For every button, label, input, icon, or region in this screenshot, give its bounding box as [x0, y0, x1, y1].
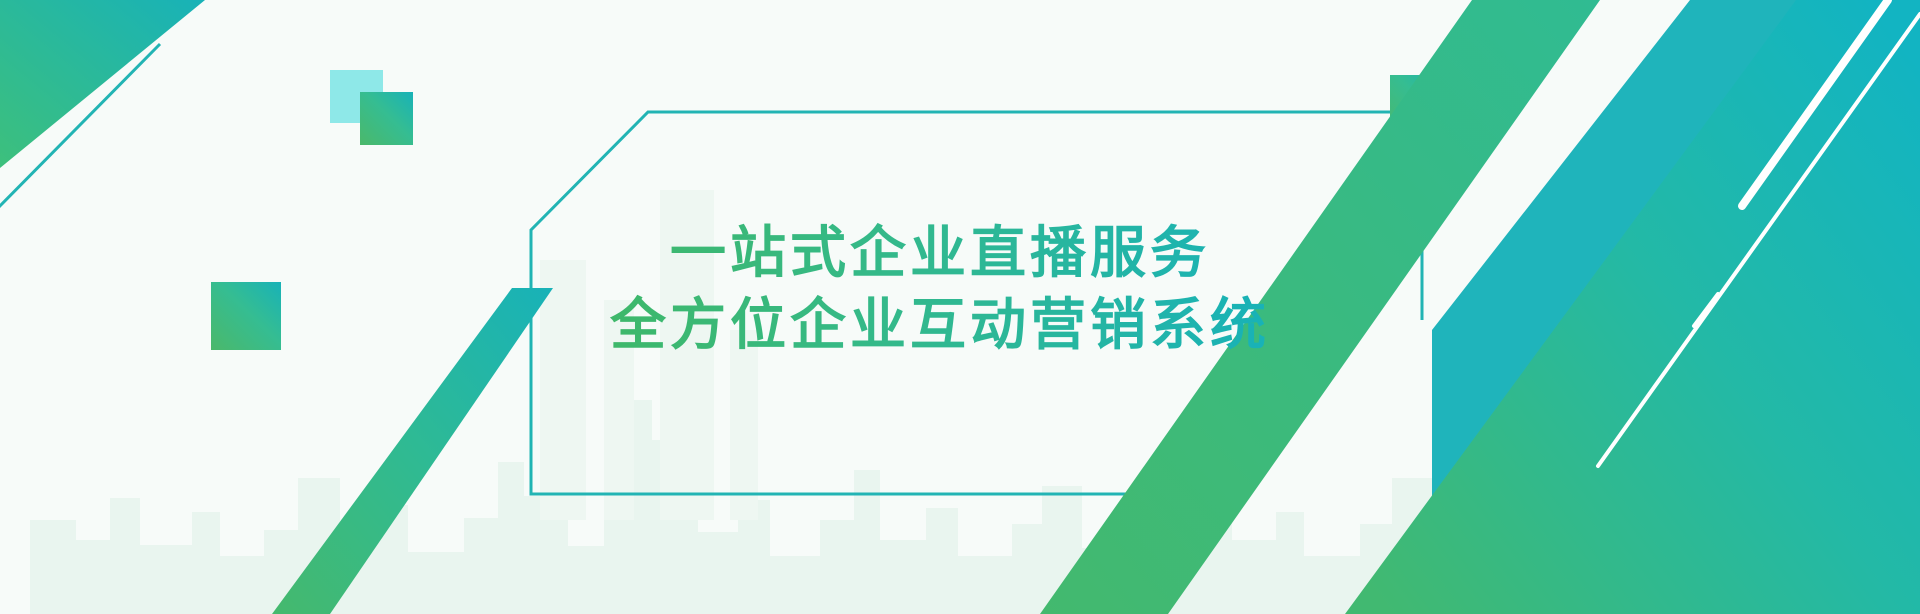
green-gradient-square-small [360, 92, 413, 145]
banner-background-graphics [0, 0, 1920, 614]
green-gradient-square-left [211, 282, 281, 350]
hero-banner: 一站式企业直播服务 全方位企业互动营销系统 [0, 0, 1920, 614]
